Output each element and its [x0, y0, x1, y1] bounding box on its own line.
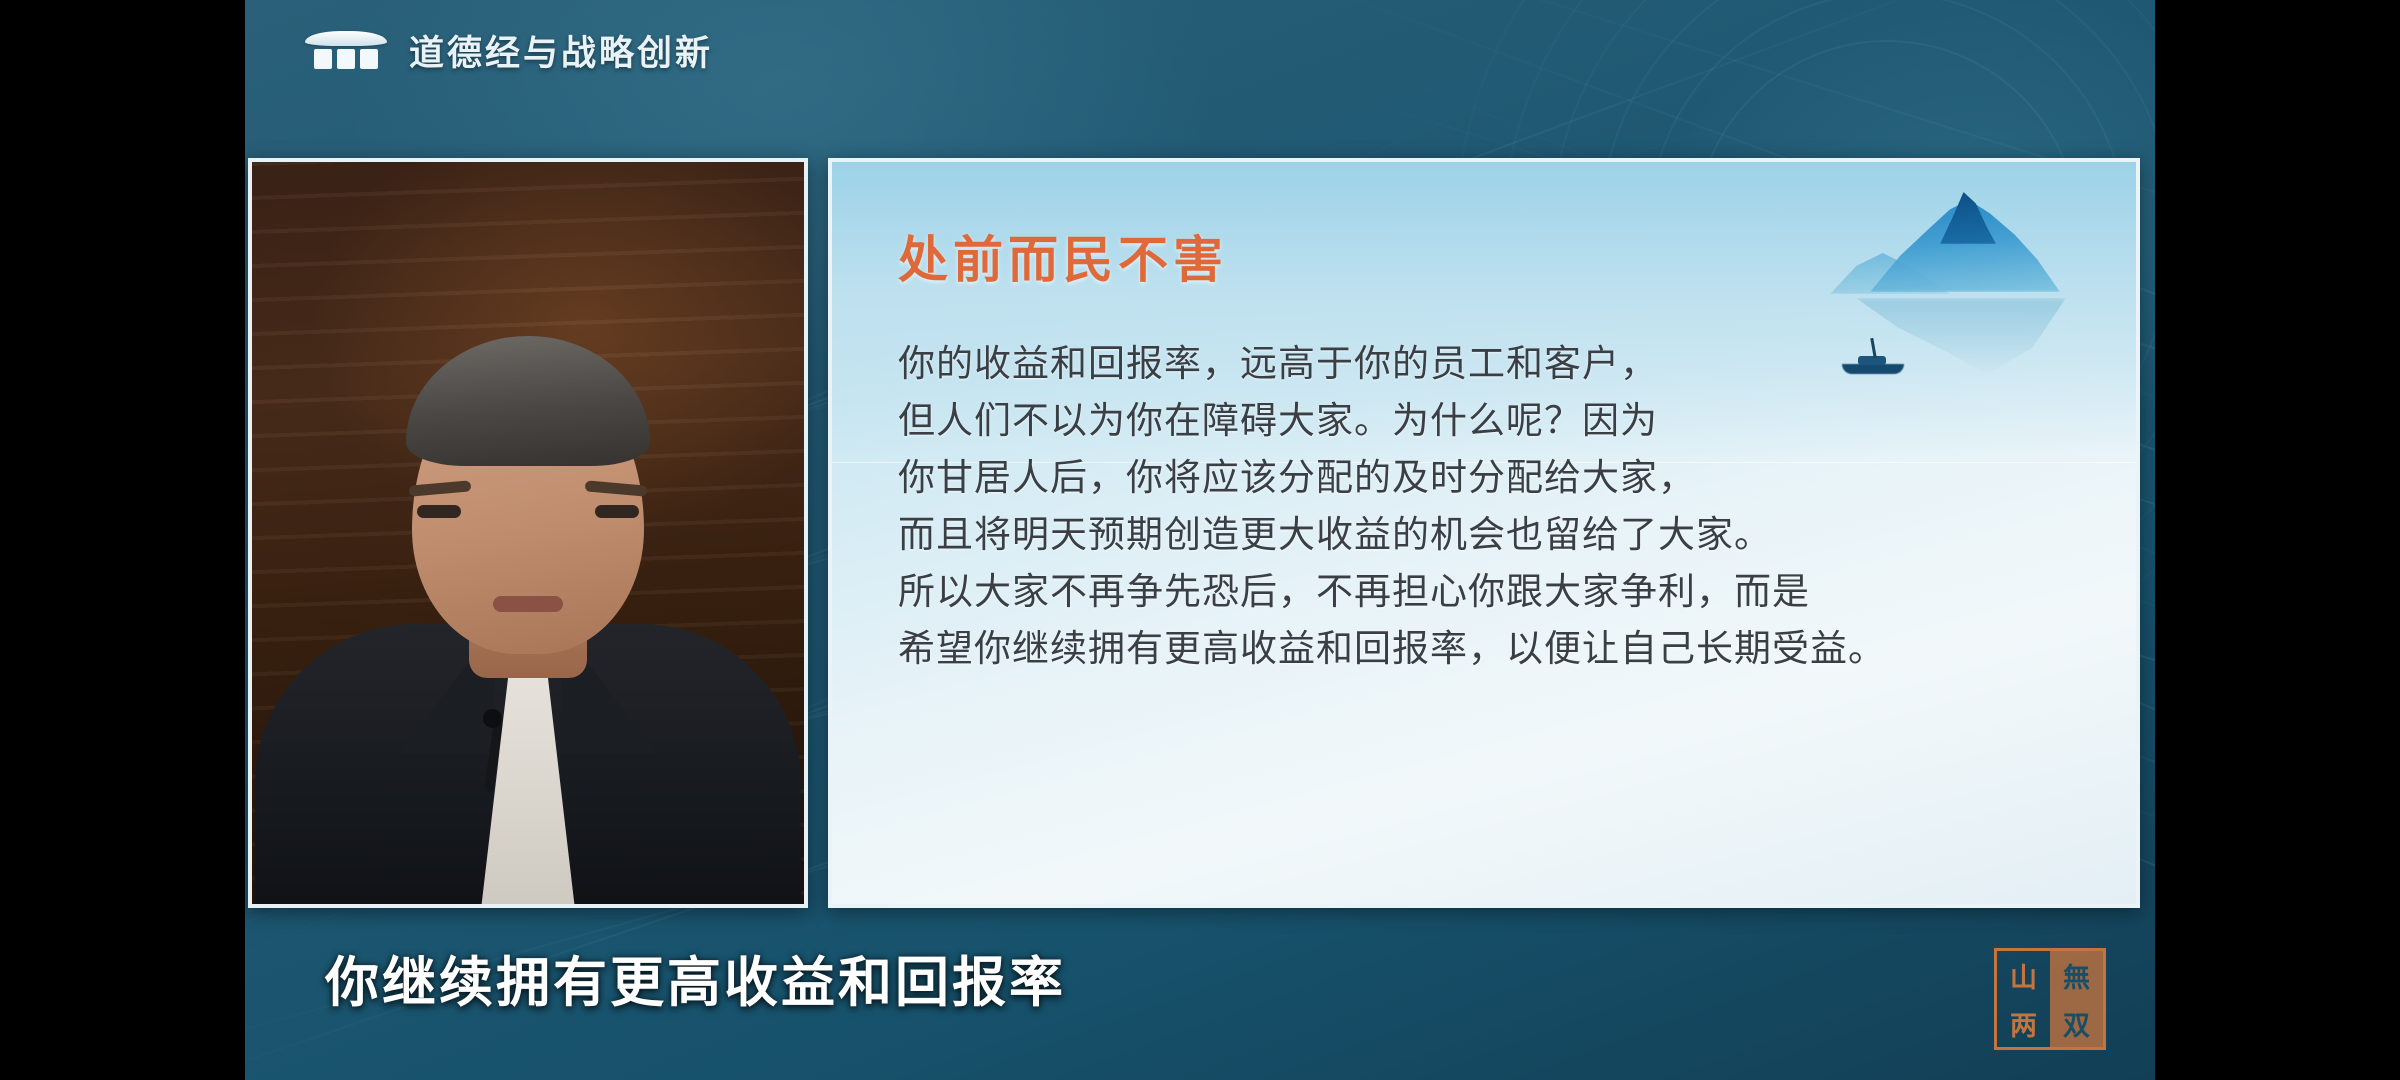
slide-line: 希望你继续拥有更高收益和回报率，以便让自己长期受益。 [898, 625, 2088, 673]
subtitle-caption: 你继续拥有更高收益和回报率 [245, 938, 2155, 1017]
letterbox-bar-right [2155, 0, 2400, 1080]
chinese-seal-stamp: 山無两双 [1994, 948, 2106, 1050]
hair [406, 336, 650, 466]
eye-left [417, 505, 461, 518]
video-player-stage: 道德经与战略创新 [0, 0, 2400, 1080]
slide-line: 你甘居人后，你将应该分配的及时分配给大家， [898, 454, 2088, 502]
lapel-microphone-head [483, 709, 502, 728]
seal-character: 無 [2050, 951, 2103, 999]
slide-line: 但人们不以为你在障碍大家。为什么呢？因为 [898, 397, 2088, 445]
gate-arch-icon [305, 29, 387, 71]
header-bar: 道德经与战略创新 [245, 0, 2155, 100]
seal-character: 双 [2050, 999, 2103, 1047]
letterbox-bar-left [0, 0, 245, 1080]
seal-character: 两 [1997, 999, 2050, 1047]
eye-right [595, 505, 639, 518]
speaker-video-panel [248, 158, 808, 908]
brand-title: 道德经与战略创新 [409, 25, 713, 76]
speaker-figure [313, 344, 743, 904]
subtitle-caption-text: 你继续拥有更高收益和回报率 [325, 938, 2155, 1017]
seal-character: 山 [1997, 951, 2050, 999]
slide-line: 而且将明天预期创造更大收益的机会也留给了大家。 [898, 511, 2088, 559]
slide-line: 你的收益和回报率，远高于你的员工和客户， [898, 340, 2088, 388]
slide-line: 所以大家不再争先恐后，不再担心你跟大家争利，而是 [898, 568, 2088, 616]
slide-title: 处前而民不害 [898, 220, 2088, 292]
presentation-slide: 处前而民不害 你的收益和回报率，远高于你的员工和客户，但人们不以为你在障碍大家。… [828, 158, 2140, 908]
mouth [493, 596, 563, 612]
slide-content: 处前而民不害 你的收益和回报率，远高于你的员工和客户，但人们不以为你在障碍大家。… [898, 220, 2088, 683]
slide-paragraph: 你的收益和回报率，远高于你的员工和客户，但人们不以为你在障碍大家。为什么呢？因为… [898, 340, 2088, 674]
